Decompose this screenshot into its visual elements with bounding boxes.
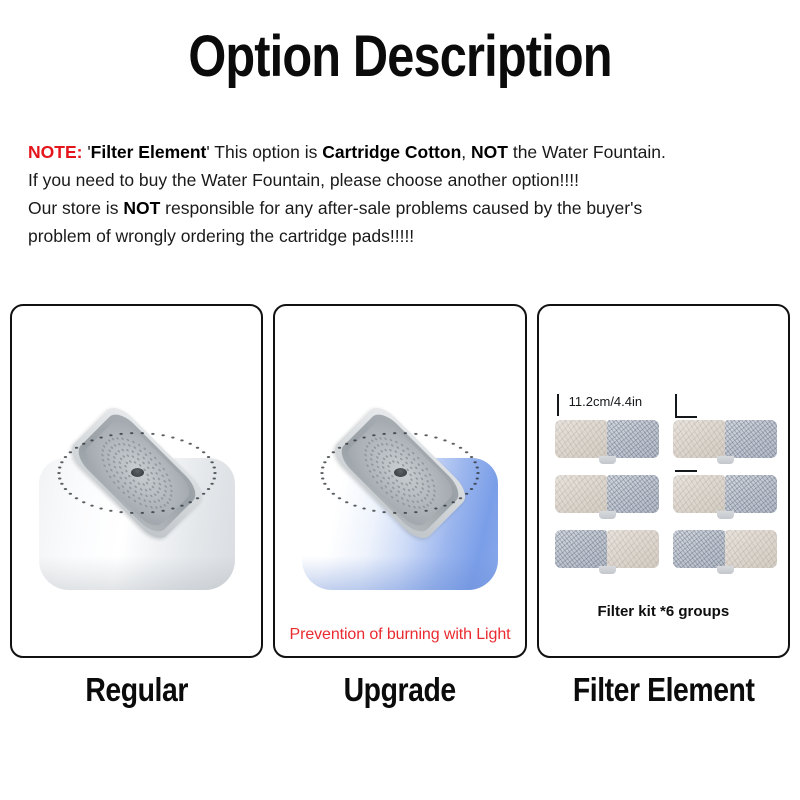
fountain-lid [307,414,493,532]
option-card-filter-element[interactable]: 11.2cm/4.4in 4.3 cm /1.7in Filter kit *6… [537,304,790,658]
note-line-2: If you need to buy the Water Fountain, p… [28,166,784,194]
filter-pad-tab [717,566,734,574]
filter-pad [555,530,659,568]
width-dimension: 11.2cm/4.4in [557,392,683,418]
width-tick-right [675,394,677,416]
filter-pad-left-half [555,475,607,513]
filter-pad-left-half [673,420,725,458]
page-title: Option Description [64,26,736,88]
filter-pad [673,530,777,568]
filter-pad [673,420,777,458]
upgrade-caption: Prevention of burning with Light [275,626,524,644]
width-dimension-label: 11.2cm/4.4in [569,394,642,409]
option-label-upgrade: Upgrade [291,670,509,718]
filter-pad-row [555,475,777,513]
filter-pad-left-half [555,420,607,458]
filter-pad [555,475,659,513]
lid-center-hole [394,468,407,477]
filter-pad-right-half [607,475,659,513]
note-line-4: problem of wrongly ordering the cartridg… [28,222,784,250]
filter-pad [673,475,777,513]
note-line-3: Our store is NOT responsible for any aft… [28,194,784,222]
filter-pad-tab [599,566,616,574]
filter-pad-grid [555,420,777,568]
filter-pad-tab [599,456,616,464]
filter-pad [555,420,659,458]
option-label-regular: Regular [28,670,246,718]
filter-pad-right-half [725,475,777,513]
filter-pad-row [555,530,777,568]
filter-pad-right-half [725,420,777,458]
water-fountain-illustration [31,414,243,596]
filter-pad-right-half [725,530,777,568]
width-tick-left [557,394,559,416]
filter-pad-tab [717,456,734,464]
fountain-lid [44,414,230,532]
lid-center-hole [131,468,144,477]
option-card-row: Prevention of burning with Light 11.2cm/… [10,304,790,658]
filter-pad-left-half [673,530,725,568]
filter-pad-tab [599,511,616,519]
option-label-row: Regular Upgrade Filter Element [10,670,790,718]
filter-pad-right-half [607,420,659,458]
height-bar-top [675,416,697,418]
water-fountain-led-illustration [294,414,506,596]
filter-cartridge-illustration: 11.2cm/4.4in 4.3 cm /1.7in [555,392,777,592]
filter-pad-left-half [673,475,725,513]
filter-pad-right-half [607,530,659,568]
option-card-regular[interactable] [10,304,263,658]
note-block: NOTE: 'Filter Element' This option is Ca… [28,138,784,250]
filter-pad-tab [717,511,734,519]
option-label-filter-element: Filter Element [554,670,772,718]
filter-kit-label: Filter kit *6 groups [539,603,788,620]
filter-pad-row [555,420,777,458]
note-line-1: NOTE: 'Filter Element' This option is Ca… [28,138,784,166]
filter-pad-left-half [555,530,607,568]
option-card-upgrade[interactable]: Prevention of burning with Light [273,304,526,658]
